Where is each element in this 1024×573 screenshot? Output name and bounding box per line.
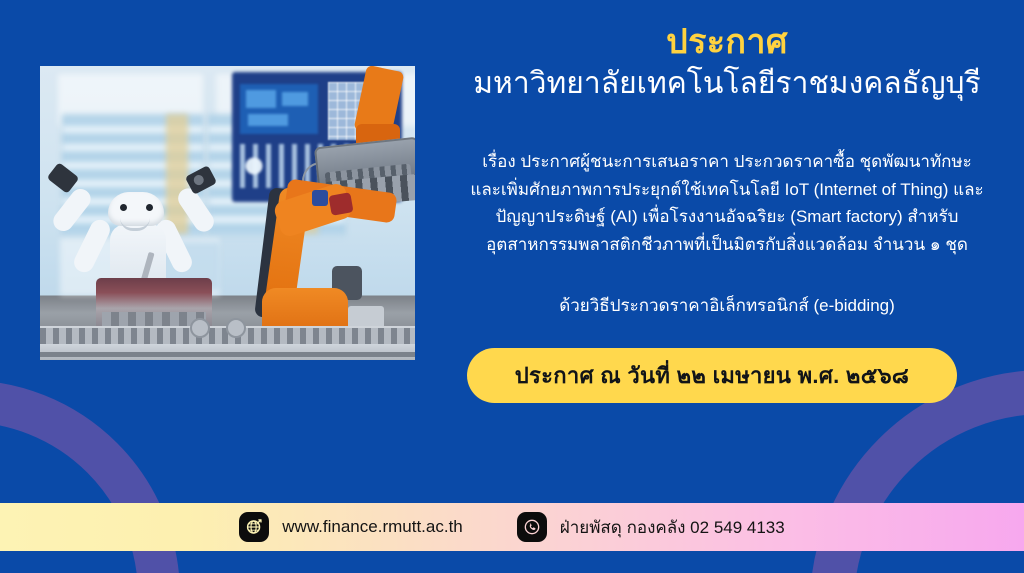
bidding-method-line: ด้วยวิธีประกวดราคาอิเล็กทรอนิกส์ (e-bidd… [430,292,1024,319]
photo-bg-accent [166,114,188,234]
photo-scene [40,66,415,360]
heading-line-2: มหาวิทยาลัยเทคโนโลยีราชมงคลธัญบุรี [430,64,1024,103]
footer-contact-bar: www.finance.rmutt.ac.th ฝ่ายพัสดุ กองคลั… [0,503,1024,551]
footer-website-item[interactable]: www.finance.rmutt.ac.th [239,512,462,542]
globe-icon [239,512,269,542]
photo-humanoid-eye [146,204,153,211]
photo-humanoid-eye [120,204,127,211]
photo-console-screen [240,84,318,134]
footer-website-label: www.finance.rmutt.ac.th [282,517,462,537]
footer-contact-label: ฝ่ายพัสดุ กองคลัง 02 549 4133 [560,514,785,541]
photo-conveyor-rail [40,352,415,357]
factory-robot-photo [40,66,415,360]
announcement-body: เรื่อง ประกาศผู้ชนะการเสนอราคา ประกวดราค… [430,148,1024,258]
announcement-poster: ประกาศ มหาวิทยาลัยเทคโนโลยีราชมงคลธัญบุร… [0,0,1024,573]
photo-conveyor-roller [226,318,246,338]
body-line: ปัญญาประดิษฐ์ (AI) เพื่อโรงงานอัจฉริยะ (… [430,203,1024,231]
phone-circle-icon [517,512,547,542]
photo-conveyor-roller [190,318,210,338]
photo-robot-detail [328,192,353,216]
poster-heading: ประกาศ มหาวิทยาลัยเทคโนโลยีราชมงคลธัญบุร… [430,22,1024,103]
body-line: และเพิ่มศักยภาพการประยุกต์ใช้เทคโนโลยี I… [430,176,1024,204]
announcement-date-badge: ประกาศ ณ วันที่ ๒๒ เมษายน พ.ศ. ๒๕๖๘ [467,348,957,403]
footer-contact-item[interactable]: ฝ่ายพัสดุ กองคลัง 02 549 4133 [517,512,785,542]
heading-line-1: ประกาศ [430,22,1024,62]
body-line: อุตสาหกรรมพลาสติกชีวภาพที่เป็นมิตรกับสิ่… [430,231,1024,259]
photo-robot-detail [312,190,328,206]
body-line: เรื่อง ประกาศผู้ชนะการเสนอราคา ประกวดราค… [430,148,1024,176]
